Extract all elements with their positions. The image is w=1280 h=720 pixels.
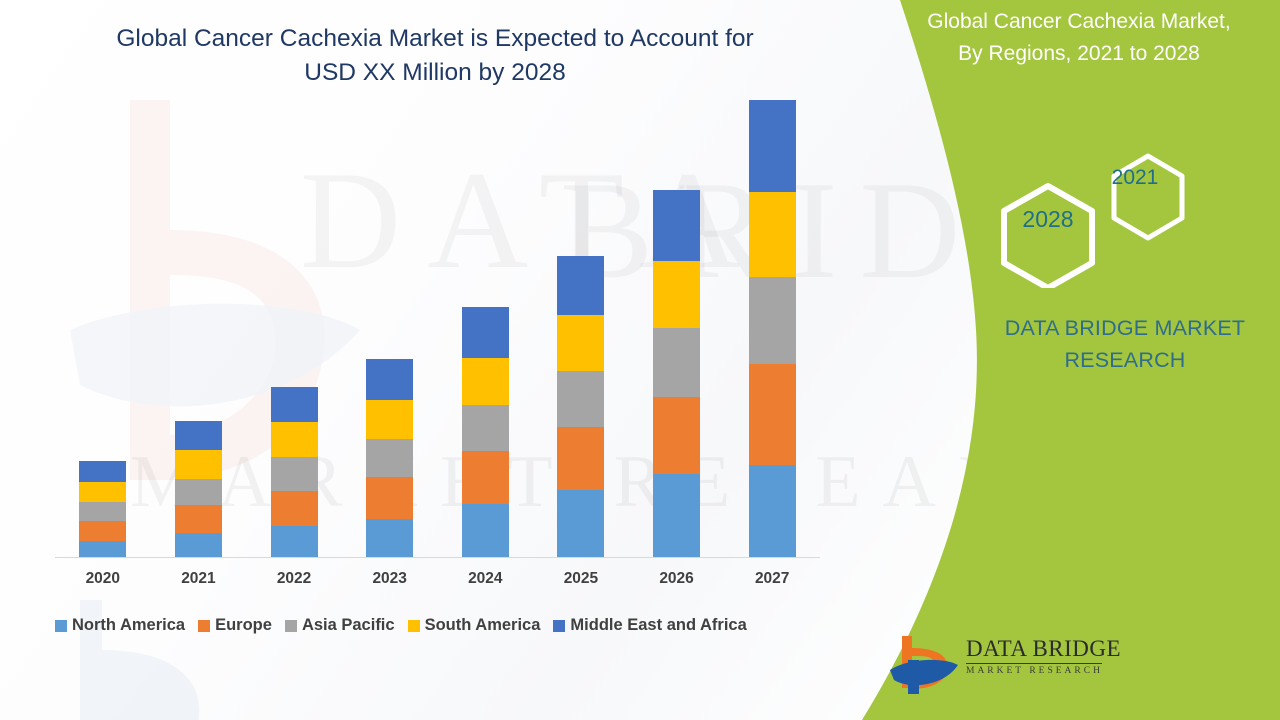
- bar-segment-europe: [79, 521, 126, 541]
- x-axis-label-2023: 2023: [342, 570, 438, 588]
- bar-segment-asia-pacific: [271, 457, 318, 490]
- plot-area: [55, 100, 820, 558]
- x-axis-label-2027: 2027: [724, 570, 820, 588]
- logo-secondary-text: MARKET RESEARCH: [966, 666, 1106, 676]
- bar-segment-middle-east-and-africa: [749, 100, 796, 192]
- bar-segment-europe: [366, 477, 413, 519]
- bar-2021: [175, 421, 222, 558]
- bar-segment-asia-pacific: [653, 328, 700, 397]
- brand-name-line-1: DATA BRIDGE MARKET: [965, 312, 1280, 344]
- bar-segment-europe: [175, 505, 222, 533]
- bar-segment-asia-pacific: [462, 405, 509, 452]
- bar-segment-north-america: [462, 504, 509, 558]
- legend-label: South America: [425, 616, 541, 635]
- brand-name-line-2: RESEARCH: [965, 344, 1280, 376]
- bar-segment-asia-pacific: [366, 439, 413, 477]
- bar-2024: [462, 307, 509, 558]
- legend-label: Middle East and Africa: [570, 616, 746, 635]
- chart-panel: DATA BRIDGE MARKET RESEARCH Global Cance…: [0, 0, 980, 720]
- bar-segment-south-america: [557, 315, 604, 371]
- bar-2027: [749, 100, 796, 558]
- data-bridge-logo-mark-icon: [888, 630, 960, 696]
- x-axis-label-2021: 2021: [150, 570, 246, 588]
- bar-segment-middle-east-and-africa: [462, 307, 509, 358]
- legend-item-south-america[interactable]: South America: [408, 616, 541, 635]
- bar-segment-north-america: [79, 541, 126, 558]
- bar-segment-middle-east-and-africa: [175, 421, 222, 450]
- bar-segment-middle-east-and-africa: [557, 256, 604, 315]
- bar-segment-europe: [462, 451, 509, 504]
- legend-swatch-icon: [553, 620, 565, 632]
- bar-segment-north-america: [749, 465, 796, 558]
- x-axis-label-2026: 2026: [629, 570, 725, 588]
- chart-legend: North AmericaEuropeAsia PacificSouth Ame…: [55, 616, 845, 635]
- bar-segment-south-america: [366, 400, 413, 439]
- legend-item-north-america[interactable]: North America: [55, 616, 185, 635]
- bar-segment-south-america: [653, 261, 700, 328]
- bar-segment-europe: [271, 491, 318, 526]
- x-axis-label-2020: 2020: [55, 570, 151, 588]
- brand-name: DATA BRIDGE MARKET RESEARCH: [965, 312, 1280, 376]
- bar-segment-middle-east-and-africa: [366, 359, 413, 399]
- legend-label: North America: [72, 616, 185, 635]
- bar-segment-middle-east-and-africa: [271, 387, 318, 422]
- bar-2020: [79, 461, 126, 558]
- bar-segment-asia-pacific: [79, 502, 126, 521]
- legend-swatch-icon: [285, 620, 297, 632]
- bar-segment-asia-pacific: [557, 371, 604, 427]
- bar-segment-south-america: [175, 450, 222, 479]
- legend-item-asia-pacific[interactable]: Asia Pacific: [285, 616, 395, 635]
- bar-segment-south-america: [79, 482, 126, 503]
- hexagon-label-2028: 2028: [980, 206, 1116, 233]
- x-axis-label-2024: 2024: [437, 570, 533, 588]
- bar-2025: [557, 256, 604, 558]
- legend-label: Europe: [215, 616, 272, 635]
- logo-divider: [966, 663, 1102, 664]
- bar-2022: [271, 387, 318, 558]
- bar-segment-asia-pacific: [749, 277, 796, 364]
- panel-title-line-1: Global Cancer Cachexia Market,: [878, 6, 1280, 38]
- bar-segment-south-america: [271, 422, 318, 457]
- legend-swatch-icon: [198, 620, 210, 632]
- x-axis-line: [55, 557, 820, 558]
- legend-label: Asia Pacific: [302, 616, 395, 635]
- legend-swatch-icon: [55, 620, 67, 632]
- company-logo: DATA BRIDGE MARKET RESEARCH: [888, 630, 1103, 698]
- x-axis-label-2025: 2025: [533, 570, 629, 588]
- logo-primary-text: DATA BRIDGE: [966, 636, 1106, 662]
- bar-2023: [366, 359, 413, 558]
- hexagon-badges: 2028 2021: [980, 148, 1200, 288]
- bar-segment-europe: [749, 364, 796, 465]
- bar-segment-south-america: [749, 192, 796, 277]
- legend-item-middle-east-and-africa[interactable]: Middle East and Africa: [553, 616, 746, 635]
- bar-segment-north-america: [366, 519, 413, 558]
- bar-2026: [653, 190, 700, 558]
- bar-segment-asia-pacific: [175, 479, 222, 505]
- legend-item-europe[interactable]: Europe: [198, 616, 272, 635]
- screenshot-root: DATA BRIDGE MARKET RESEARCH Global Cance…: [0, 0, 1280, 720]
- x-axis-labels: 20202021202220232024202520262027: [55, 570, 820, 598]
- legend-swatch-icon: [408, 620, 420, 632]
- bar-segment-north-america: [271, 526, 318, 558]
- bar-segment-europe: [557, 427, 604, 490]
- logo-wordmark: DATA BRIDGE MARKET RESEARCH: [966, 636, 1106, 676]
- stacked-bar-chart: 20202021202220232024202520262027: [0, 0, 860, 600]
- bar-segment-north-america: [557, 490, 604, 558]
- bar-segment-middle-east-and-africa: [79, 461, 126, 482]
- panel-title-line-2: By Regions, 2021 to 2028: [878, 38, 1280, 70]
- bar-segment-south-america: [462, 358, 509, 405]
- panel-title: Global Cancer Cachexia Market, By Region…: [878, 6, 1280, 70]
- hexagon-label-2021: 2021: [1080, 166, 1190, 190]
- bar-segment-europe: [653, 397, 700, 474]
- x-axis-label-2022: 2022: [246, 570, 342, 588]
- bar-segment-middle-east-and-africa: [653, 190, 700, 261]
- bar-segment-north-america: [175, 533, 222, 558]
- bar-segment-north-america: [653, 474, 700, 558]
